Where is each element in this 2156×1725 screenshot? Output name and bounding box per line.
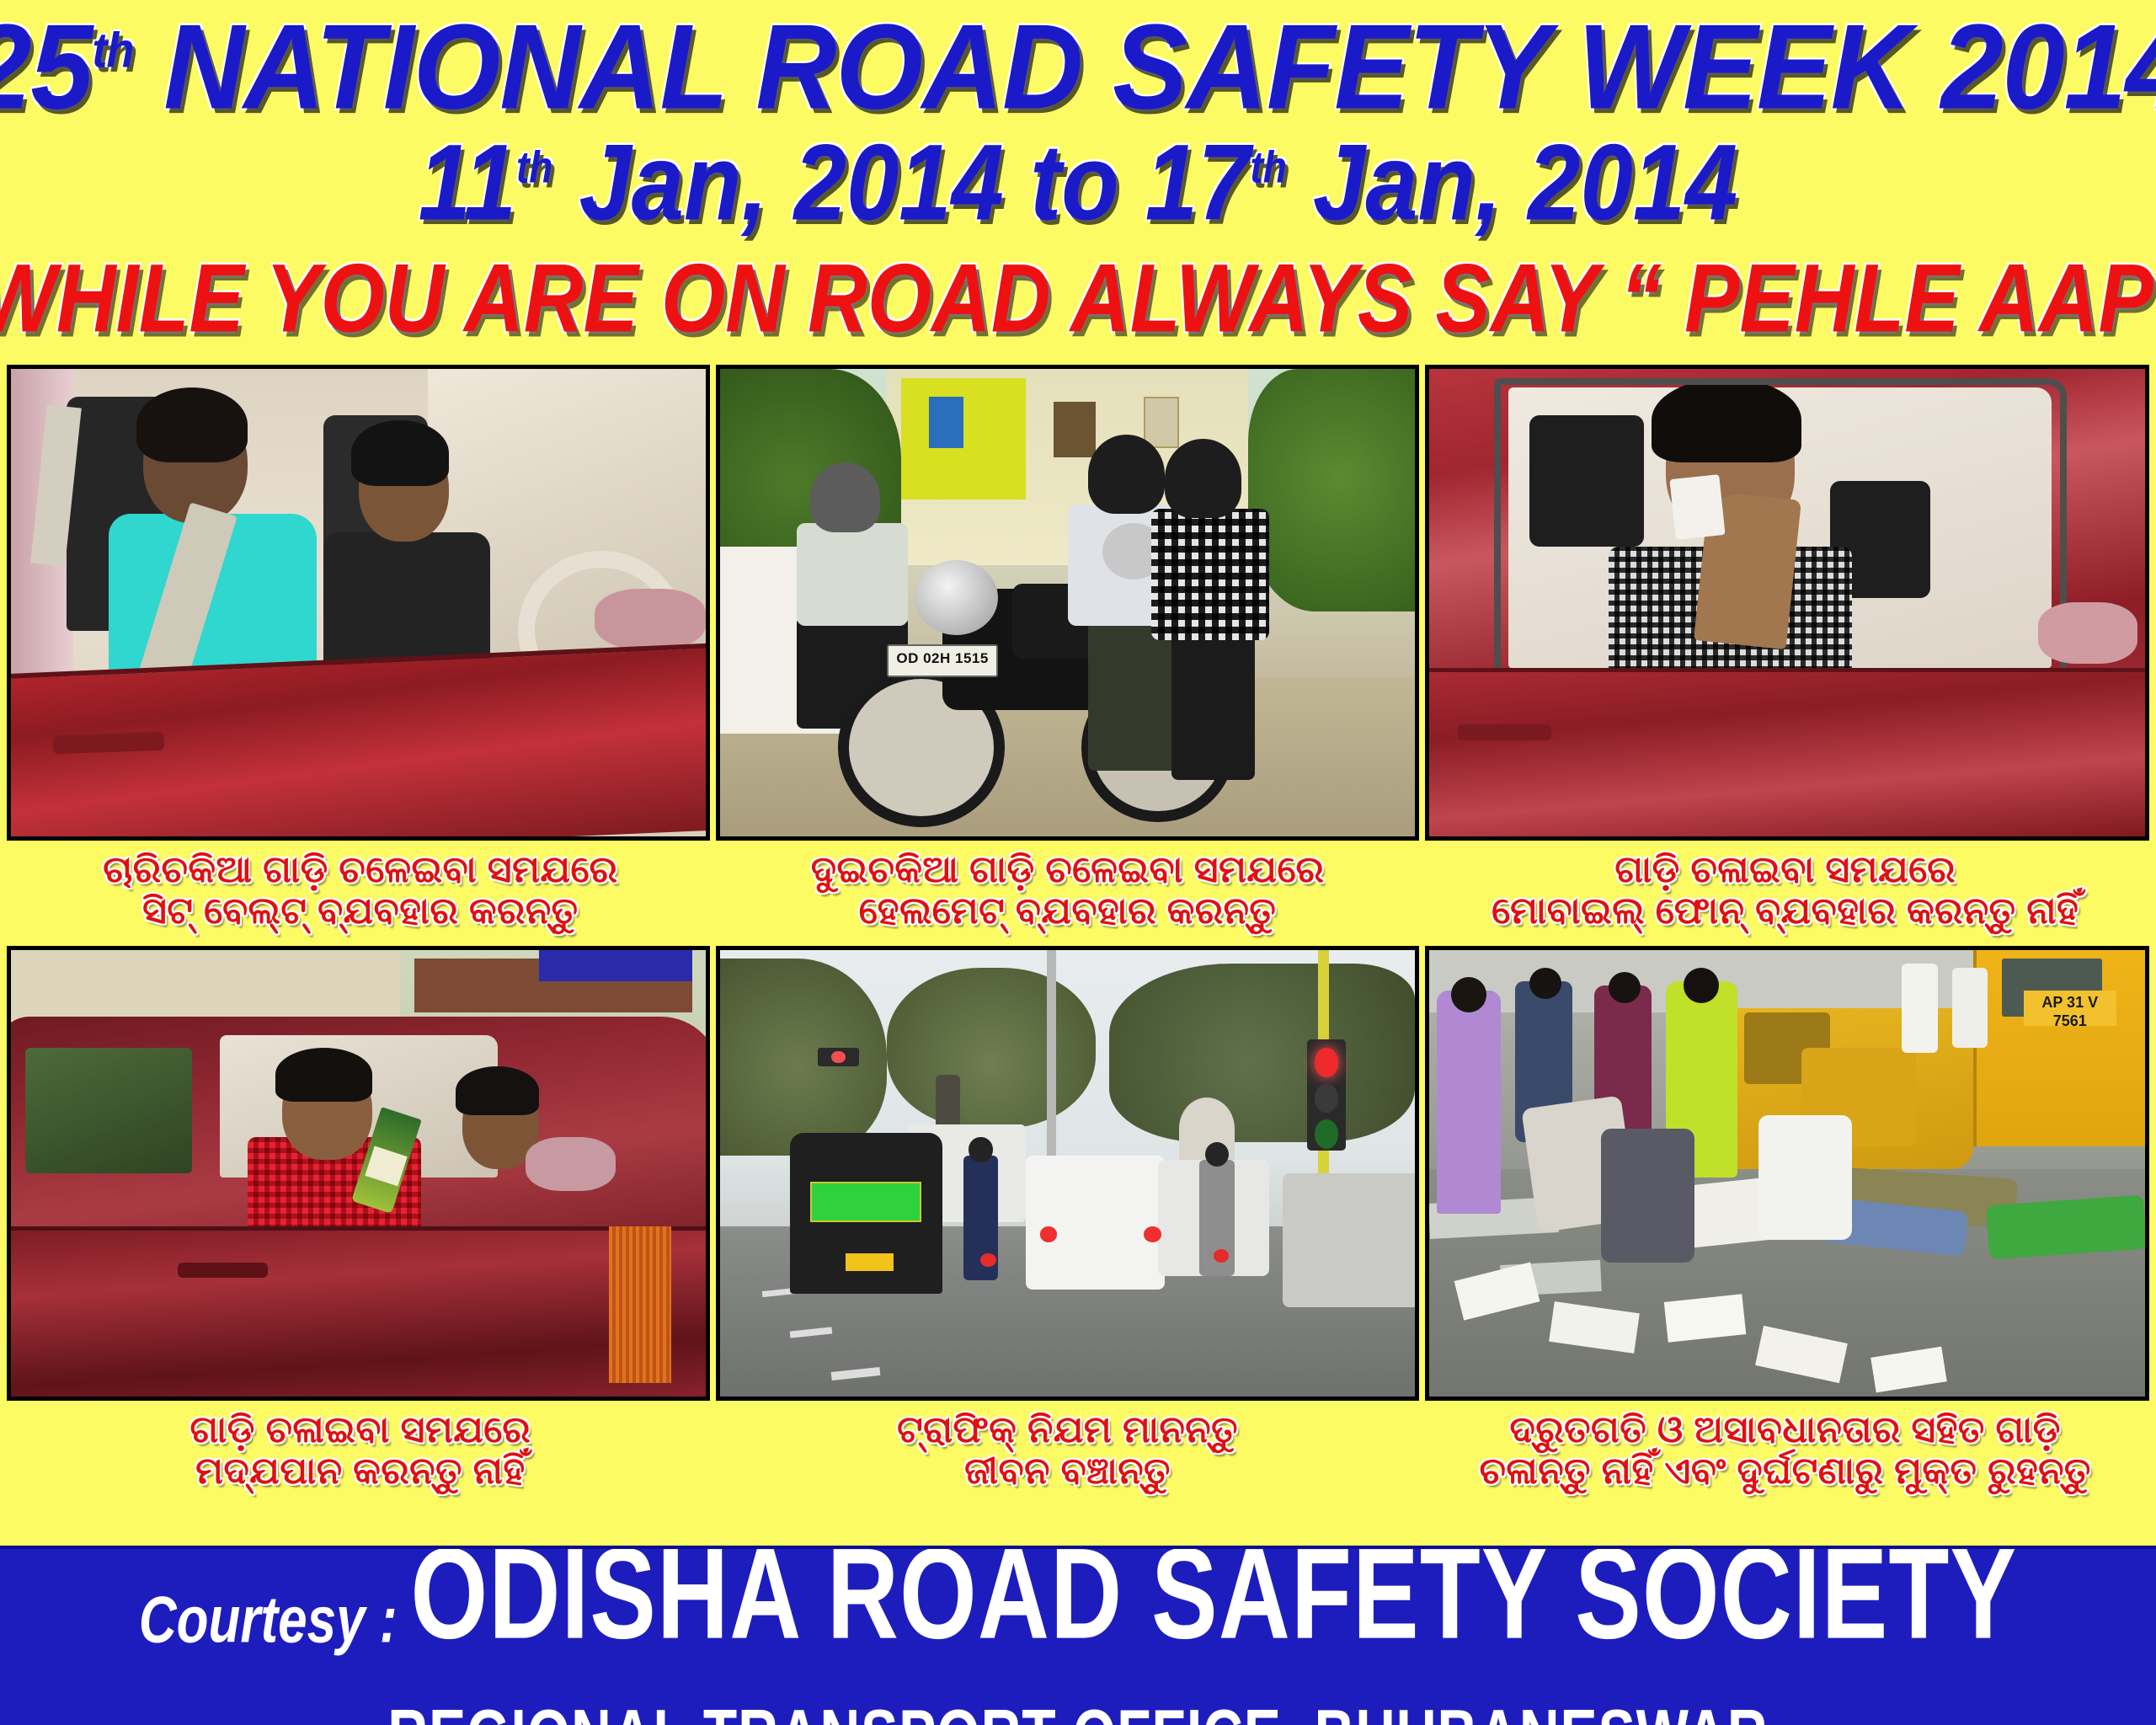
campaign-slogan: WHILE YOU ARE ON ROAD ALWAYS SAY “ PEHLE… [0,250,2156,347]
caption-line-1: ଦ୍ରୁତଗତି ଓ ଅସାବଧାନତାର ସହିତ ଗାଡ଼ି [1424,1409,2146,1450]
brake-light [1040,1226,1058,1242]
courtesy-label: Courtesy : [139,1583,398,1658]
car-door-panel [1429,668,2145,836]
secondary-signal-red [831,1051,846,1064]
event-date-range: 11th Jan, 2014 to 17th Jan, 2014 [0,129,2156,237]
brake-light [1144,1226,1161,1242]
date-start-ordinal: th [516,142,552,192]
building-window-blue [929,397,963,448]
brake-light [1214,1249,1229,1263]
passenger-hair [275,1048,373,1102]
traffic-light-red [1315,1048,1337,1076]
page-title: 25th NATIONAL ROAD SAFETY WEEK 2014 [0,10,2156,126]
title-number: 25 [0,0,92,135]
building-window-brown [1054,402,1096,458]
caption-line-1: ଗାଡ଼ି ଚଳାଇବା ସମଯରେ [10,1409,711,1450]
pillion-helmet [1165,439,1241,518]
photo-traffic-signal [716,946,1419,1401]
brake-light [980,1253,995,1267]
motorcycle-helmet-front [969,1137,992,1162]
driver-hair [351,420,449,486]
bystander-head [1451,977,1486,1012]
title-main-text: NATIONAL ROAD SAFETY WEEK 2014 [133,0,2156,135]
footer-primary-line: Courtesy : ODISHA ROAD SAFETY SOCIETY [0,1549,2156,1669]
photo-drink-driving [7,946,710,1401]
street-light-pole [1047,950,1057,1156]
shop-signboard [539,950,692,981]
building-window-upper [1144,397,1178,448]
caption-line-2: ସିଟ୍ ବେଲ୍ଟ୍ ବ୍ଯବହାର କରନ୍ତୁ [10,890,711,932]
tree-left [716,959,887,1155]
caption-row-top: ଚାରିଚକିଆ ଗାଡ଼ି ଚଳେଇବା ସମଯରେ ସିଟ୍ ବେଲ୍ଟ୍ … [0,841,2156,946]
caption-seat-belt: ଚାରିଚକିଆ ଗାଡ଼ି ଚଳେଇବା ସମଯରେ ସିଟ୍ ବେଲ୍ଟ୍ … [7,841,714,946]
pillion-legs [1171,631,1255,781]
side-mirror [526,1137,616,1191]
caption-line-2: ଚଳାନ୍ତୁ ନାହିଁ ଏବଂ ଦୁର୍ଘଟଣାରୁ ମୁକ୍ତ ରୁହନ୍… [1424,1450,2146,1492]
helper-kneeling-right [1758,1115,1851,1240]
scattered-paper [1663,1295,1746,1343]
caption-line-2: ମଦ୍ଯପାନ କରନ୍ତୁ ନାହିଁ [10,1450,711,1492]
injured-person-green-saree [1986,1194,2147,1258]
photo-seat-belt [7,365,710,841]
caption-line-2: ମୋବାଇଲ୍ ଫୋନ୍ ବ୍ଯବହାର କରନ୍ତୁ ନାହିଁ [1424,890,2146,932]
tree-right [1109,964,1415,1142]
bystander-student [1952,968,1988,1048]
window-frame [1494,378,2067,677]
road-safety-poster: 25th NATIONAL ROAD SAFETY WEEK 2014 11th… [0,0,2156,1725]
motorcycle-rider-helmet [1088,435,1165,514]
bystander-student [1902,964,1937,1053]
caption-line-1: ଟ୍ରାଫିକ୍ ନିଯମ ମାନନ୍ତୁ [718,1409,1418,1450]
bystander-woman-purple [1437,991,1501,1214]
poster-footer: Courtesy : ODISHA ROAD SAFETY SOCIETY RE… [0,1546,2156,1725]
photo-row-top: OD 02H 1515 [0,365,2156,841]
motorcycle-rider-legs [1088,622,1178,772]
photo-helmet: OD 02H 1515 [716,365,1419,841]
traffic-light-amber [1315,1084,1337,1113]
motorcycle-number-plate: OD 02H 1515 [887,644,998,677]
side-mirror [2038,602,2138,663]
caption-row-bottom: ଗାଡ଼ି ଚଳାଇବା ସମଯରେ ମଦ୍ଯପାନ କରନ୍ତୁ ନାହିଁ … [0,1401,2156,1503]
date-start-day: 11 [419,122,516,242]
caption-mobile-phone: ଗାଡ଼ି ଚଳାଇବା ସମଯରେ ମୋବାଇଲ୍ ଫୋନ୍ ବ୍ଯବହାର … [1421,841,2149,946]
caption-drink-driving: ଗାଡ଼ି ଚଳାଇବା ସମଯରେ ମଦ୍ଯପାନ କରନ୍ତୁ ନାହିଁ [7,1401,714,1503]
scooter-rider-helmet [810,462,880,532]
scooter-rider-body [797,523,908,626]
yellow-building-wall [901,378,1027,499]
traffic-light-green [1315,1119,1337,1148]
bystander-head [1609,972,1641,1003]
caption-line-2: ଜୀବନ ବଞ୍ଚାନ୍ତୁ [718,1450,1418,1492]
caption-accident: ଦ୍ରୁତଗତି ଓ ଅସାବଧାନତାର ସହିତ ଗାଡ଼ି ଚଳାନ୍ତୁ… [1421,1401,2149,1503]
organisation-name: ODISHA ROAD SAFETY SOCIETY [410,1546,2017,1669]
photo-accident: AP 31 V 7561 [1425,946,2149,1401]
door-handle [1458,724,1550,740]
driver-hair [456,1066,539,1115]
silver-suv [1283,1173,1419,1307]
caption-helmet: ଦୁଇଚକିଆ ଗାଡ଼ି ଚଳେଇବା ସମଯରେ ହେଲମେଟ୍ ବ୍ଯବହ… [714,841,1422,946]
photo-row-bottom: AP 31 V 7561 [0,946,2156,1401]
rear-window [25,1048,192,1172]
motorcycle-headlamp [915,560,998,635]
office-name: REGIONAL TRANSPORT OFFICE, BHUBANESWAR [0,1693,2156,1725]
photo-mobile-phone [1425,365,2149,841]
title-ordinal-suffix: th [92,24,133,78]
tree-centre [887,968,1096,1129]
caption-line-1: ଗାଡ଼ି ଚଳାଇବା ସମଯରେ [1424,849,2146,890]
auto-rickshaw-green-panel [810,1182,921,1222]
car-door-panel [7,1226,710,1400]
pillion-body [1151,509,1269,639]
caption-line-2: ହେଲମେଟ୍ ବ୍ଯବହାର କରନ୍ତୁ [718,890,1418,932]
caption-line-1: ଚାରିଚକିଆ ଗାଡ଼ି ଚଳେଇବା ସମଯରେ [10,849,711,890]
passenger-hair [136,387,248,462]
date-end-text: Jan, 2014 [1287,122,1738,242]
auto-rickshaw-plate [846,1253,894,1271]
caption-line-1: ଦୁଇଚକିଆ ଗାଡ଼ି ଚଳେଇବା ସମଯରେ [718,849,1418,890]
date-middle-text: Jan, 2014 to 17 [552,122,1250,242]
door-handle [52,731,164,754]
palm-tree-right [1248,369,1415,612]
helper-kneeling-centre [1601,1129,1694,1263]
date-end-ordinal: th [1250,142,1286,192]
poster-header: 25th NATIONAL ROAD SAFETY WEEK 2014 11th… [0,0,2156,339]
caption-traffic-rules: ଟ୍ରାଫିକ୍ ନିଯମ ମାନନ୍ତୁ ଜୀବନ ବଞ୍ଚାନ୍ତୁ [714,1401,1422,1503]
motorcycle-helmet-right [1205,1142,1229,1167]
door-handle [178,1263,268,1279]
orange-tassel [609,1226,671,1383]
side-mirror [595,589,706,649]
bus-number-plate: AP 31 V 7561 [2024,991,2116,1026]
white-hatchback [1026,1156,1165,1290]
